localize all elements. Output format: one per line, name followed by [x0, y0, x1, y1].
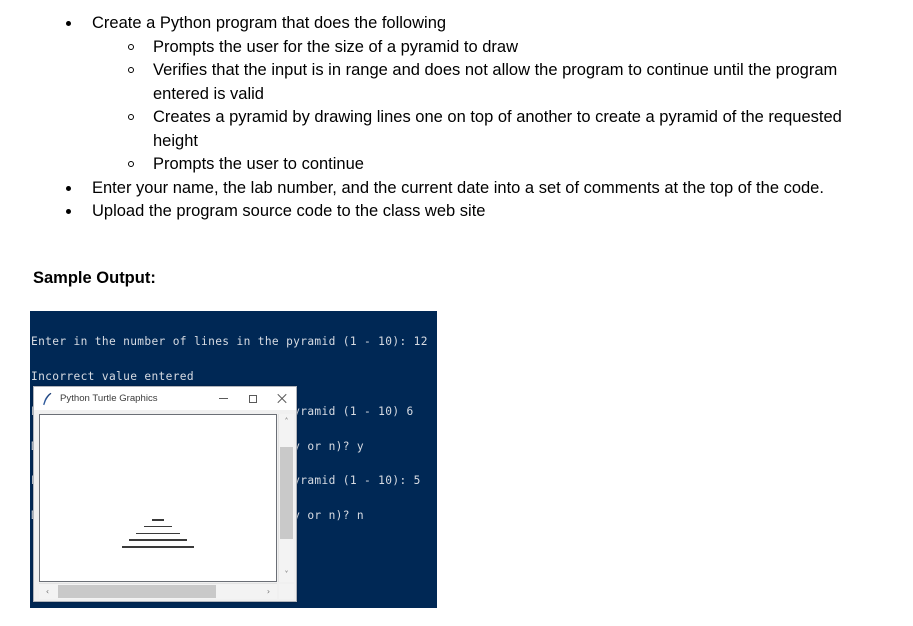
close-icon	[277, 394, 287, 404]
window-titlebar[interactable]: Python Turtle Graphics	[34, 387, 296, 411]
bullet-circle-icon	[128, 161, 134, 167]
maximize-icon	[249, 395, 257, 403]
pyramid-drawing	[40, 519, 276, 553]
scrollbar-corner	[279, 584, 294, 599]
bullet-circle-icon	[128, 67, 134, 73]
window-controls	[209, 387, 296, 410]
scroll-right-icon[interactable]: ›	[260, 584, 277, 599]
pyramid-line	[136, 533, 180, 535]
bullet-text: Create a Python program that does the fo…	[92, 14, 446, 32]
subbullet-text: Verifies that the input is in range and …	[153, 61, 837, 103]
scroll-left-icon[interactable]: ‹	[39, 584, 56, 599]
minimize-button[interactable]	[209, 387, 238, 410]
pyramid-line	[152, 519, 164, 521]
window-body: ˄ ˅ ‹ ›	[34, 410, 296, 601]
maximize-button[interactable]	[238, 387, 267, 410]
turtle-canvas[interactable]	[39, 414, 277, 582]
bullet-circle-icon	[128, 114, 134, 120]
window-title: Python Turtle Graphics	[60, 393, 158, 404]
subbullet-text: Prompts the user for the size of a pyram…	[153, 38, 518, 56]
horizontal-scrollbar-thumb[interactable]	[58, 585, 216, 598]
list-item: Enter your name, the lab number, and the…	[66, 177, 852, 201]
list-item: Create a Python program that does the fo…	[66, 12, 852, 177]
bullet-circle-icon	[128, 44, 134, 50]
turtle-graphics-window: Python Turtle Graphics	[33, 386, 297, 602]
horizontal-scrollbar[interactable]: ‹ ›	[39, 583, 277, 599]
instruction-list: Create a Python program that does the fo…	[0, 12, 913, 224]
list-item: Creates a pyramid by drawing lines one o…	[127, 106, 852, 153]
pyramid-line	[144, 526, 172, 528]
minimize-icon	[219, 398, 228, 399]
close-button[interactable]	[267, 387, 296, 410]
vertical-scrollbar-thumb[interactable]	[280, 447, 293, 539]
console-line: Enter in the number of lines in the pyra…	[31, 336, 428, 348]
console-window: Enter in the number of lines in the pyra…	[30, 311, 437, 608]
list-item: Prompts the user to continue	[127, 153, 852, 177]
subbullet-text: Prompts the user to continue	[153, 155, 364, 173]
page-title: Sample Output:	[33, 269, 156, 288]
pyramid-line	[129, 539, 187, 541]
list-item: Prompts the user for the size of a pyram…	[127, 36, 852, 60]
bullet-disc-icon	[66, 21, 71, 26]
sub-instruction-list: Prompts the user for the size of a pyram…	[127, 36, 852, 177]
console-line: Incorrect value entered	[31, 371, 428, 383]
scroll-up-icon[interactable]: ˄	[279, 414, 294, 429]
feather-pen-icon	[41, 392, 53, 406]
bullet-disc-icon	[66, 209, 71, 214]
list-item: Verifies that the input is in range and …	[127, 59, 852, 106]
scroll-down-icon[interactable]: ˅	[279, 567, 294, 582]
pyramid-line	[122, 546, 194, 548]
subbullet-text: Creates a pyramid by drawing lines one o…	[153, 108, 842, 150]
vertical-scrollbar[interactable]: ˄ ˅	[278, 414, 294, 582]
bullet-text: Enter your name, the lab number, and the…	[92, 179, 824, 197]
bullet-text: Upload the program source code to the cl…	[92, 202, 485, 220]
list-item: Upload the program source code to the cl…	[66, 200, 852, 224]
bullet-disc-icon	[66, 186, 71, 191]
